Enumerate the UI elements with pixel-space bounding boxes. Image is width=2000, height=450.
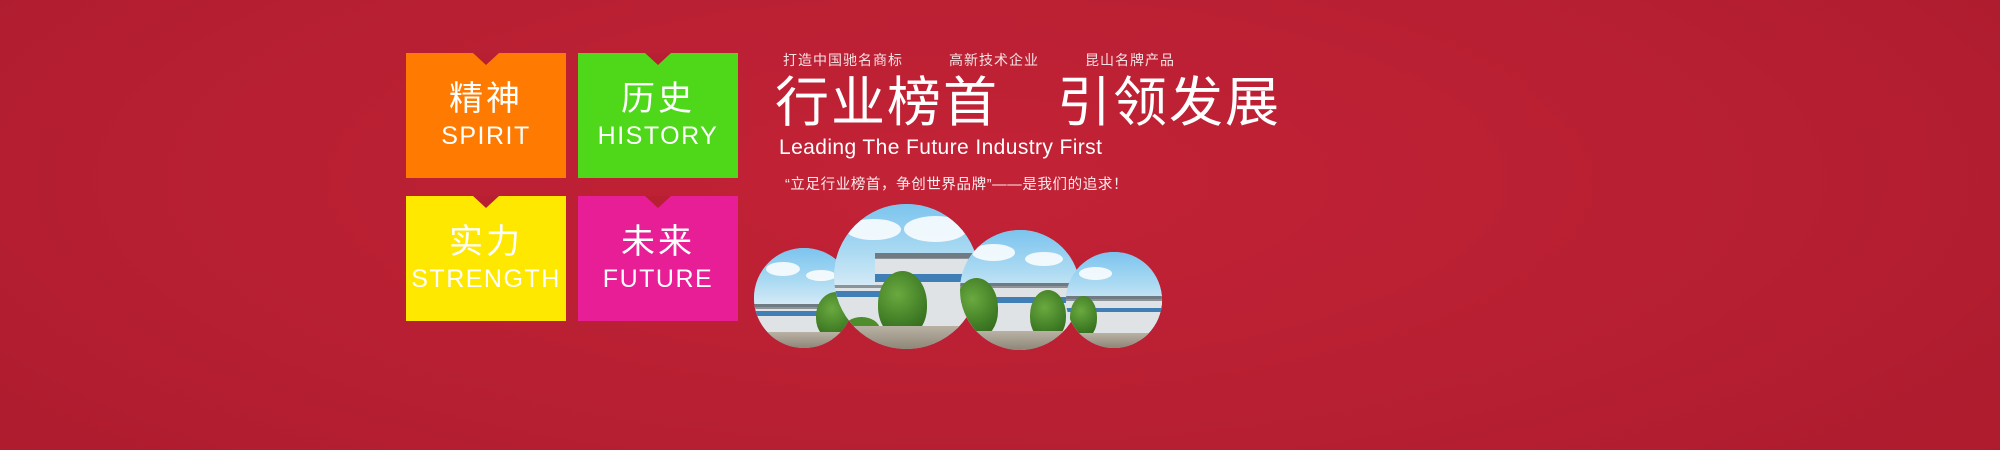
ground <box>1066 333 1162 348</box>
tile-spirit[interactable]: 精神 SPIRIT <box>406 53 566 178</box>
tile-notch-icon <box>645 196 671 208</box>
tile-history-label-cn: 历史 <box>621 82 695 116</box>
tile-strength-label-cn: 实力 <box>449 225 523 259</box>
cloud <box>1079 267 1112 279</box>
cloud <box>846 219 901 241</box>
tile-strength-label-en: STRENGTH <box>411 267 561 292</box>
tile-notch-icon <box>645 53 671 65</box>
ground <box>960 331 1080 350</box>
tile-history[interactable]: 历史 HISTORY <box>578 53 738 178</box>
photo-cluster <box>748 190 1178 350</box>
subtitle: Leading The Future Industry First <box>775 136 1415 160</box>
credential-item-2: 高新技术企业 <box>949 50 1039 70</box>
tile-notch-icon <box>473 196 499 208</box>
credential-list: 打造中国驰名商标 高新技术企业 昆山名牌产品 <box>775 50 1415 70</box>
tile-spirit-label-en: SPIRIT <box>441 124 531 149</box>
tile-history-label-en: HISTORY <box>598 124 719 149</box>
tile-future-label-en: FUTURE <box>603 267 713 292</box>
factory-photo-center <box>834 204 979 349</box>
headline-part-2: 引领发展 <box>1057 73 1281 133</box>
credential-item-1: 打造中国驰名商标 <box>783 50 903 70</box>
credential-item-3: 昆山名牌产品 <box>1085 50 1175 70</box>
cloud <box>806 270 836 281</box>
ground <box>834 326 979 349</box>
factory-photo-far-right <box>1066 252 1162 348</box>
tile-future[interactable]: 未来 FUTURE <box>578 196 738 321</box>
headline-block: 打造中国驰名商标 高新技术企业 昆山名牌产品 行业榜首 引领发展 Leading… <box>775 50 1415 194</box>
cloud <box>766 262 800 276</box>
headline-part-1: 行业榜首 <box>775 73 999 133</box>
cloud <box>904 216 968 242</box>
factory-photo-right <box>960 230 1080 350</box>
building-stripe <box>834 291 883 297</box>
page-title: 行业榜首 引领发展 <box>775 74 1415 132</box>
tile-notch-icon <box>473 53 499 65</box>
cloud <box>1025 252 1063 266</box>
tile-future-label-cn: 未来 <box>621 225 695 259</box>
tile-strength[interactable]: 实力 STRENGTH <box>406 196 566 321</box>
promo-banner: 精神 SPIRIT 历史 HISTORY 实力 STRENGTH 未来 FUTU… <box>0 0 2000 450</box>
tile-spirit-label-cn: 精神 <box>449 82 523 116</box>
